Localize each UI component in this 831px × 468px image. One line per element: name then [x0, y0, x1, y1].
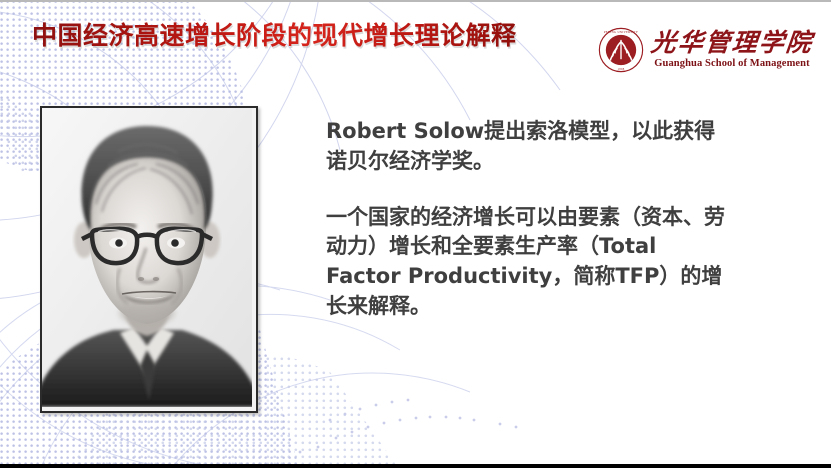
- slide-title-text: 中国经济高速增长阶段的现代增长理论解释: [32, 22, 517, 51]
- slide-body-text: Robert Solow提出索洛模型，以此获得诺贝尔经济学奖。 一个国家的经济增…: [326, 117, 726, 322]
- guanghua-logo: PEKING UNIVERSITY 1898 光华管理学院 Guanghua S…: [598, 27, 813, 73]
- paragraph-spacer: [326, 177, 726, 203]
- svg-text:PEKING UNIVERSITY: PEKING UNIVERSITY: [604, 30, 639, 34]
- robert-solow-portrait-image: [42, 108, 252, 407]
- portrait-photo-frame: [40, 106, 258, 413]
- peking-university-seal-icon: PEKING UNIVERSITY 1898: [598, 27, 644, 73]
- paragraph-2: 一个国家的经济增长可以由要素（资本、劳动力）增长和全要素生产率（Total Fa…: [326, 203, 726, 322]
- page-title: 中国经济高速增长阶段的现代增长理论解释: [32, 22, 517, 51]
- logo-chinese-name: 光华管理学院: [650, 30, 815, 55]
- bottom-black-bar: [0, 464, 831, 468]
- presentation-slide: 中国经济高速增长阶段的现代增长理论解释 中国经济高速增长阶段的现代增长理论解释 …: [0, 0, 831, 468]
- logo-text-block: 光华管理学院 Guanghua School of Management: [651, 30, 813, 70]
- logo-english-name: Guanghua School of Management: [654, 59, 809, 70]
- paragraph-1: Robert Solow提出索洛模型，以此获得诺贝尔经济学奖。: [326, 117, 726, 177]
- svg-text:1898: 1898: [618, 67, 625, 71]
- top-divider-rule: [0, 0, 831, 2]
